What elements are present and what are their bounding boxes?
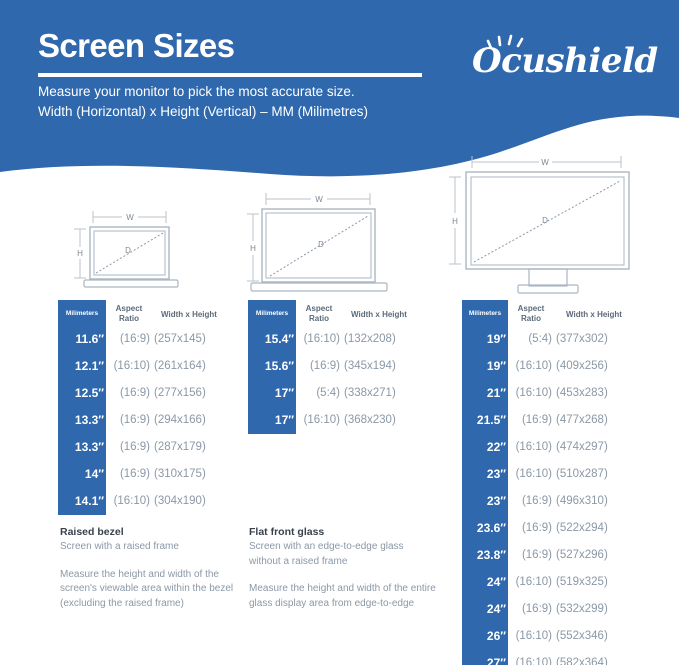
- cell-aspect-ratio: (16:10): [104, 353, 150, 380]
- cell-width-height: (310x175): [154, 461, 234, 488]
- table-3-rows: 19″(5:4)(377x302)19″(16:10)(409x256)21″(…: [462, 326, 642, 665]
- col-header-millimeters: Milimeters: [250, 310, 294, 318]
- height-label: H: [452, 217, 458, 226]
- table-row: 21″(16:10)(453x283): [462, 380, 642, 407]
- table-row: 19″(16:10)(409x256): [462, 353, 642, 380]
- cell-width-height: (304x190): [154, 488, 234, 515]
- col-header-width-height: Width x Height: [548, 310, 640, 320]
- note-raised-bezel-subtitle: Screen with a raised frame: [60, 540, 248, 555]
- cell-aspect-ratio: (16:9): [506, 488, 552, 515]
- size-table-laptop: Milimeters Aspect Ratio Width x Height 1…: [58, 300, 233, 515]
- table-row: 26″(16:10)(552x346): [462, 623, 642, 650]
- note-flat-glass-title: Flat front glass: [249, 526, 437, 538]
- table-row: 19″(5:4)(377x302): [462, 326, 642, 353]
- cell-width-height: (474x297): [556, 434, 642, 461]
- cell-millimeters: 11.6″: [60, 326, 104, 353]
- col-header-aspect: Aspect: [510, 304, 552, 314]
- cell-millimeters: 22″: [464, 434, 506, 461]
- cell-width-height: (496x310): [556, 488, 642, 515]
- cell-aspect-ratio: (16:10): [506, 434, 552, 461]
- subtitle-line-2: Width (Horizontal) x Height (Vertical) –…: [38, 102, 468, 122]
- cell-width-height: (287x179): [154, 434, 234, 461]
- table-row: 11.6″(16:9)(257x145): [58, 326, 233, 353]
- width-label: W: [541, 158, 549, 167]
- note-raised-bezel-body: Measure the height and width of the scre…: [60, 568, 248, 612]
- cell-millimeters: 17″: [250, 380, 294, 407]
- cell-millimeters: 23″: [464, 461, 506, 488]
- width-label: W: [315, 195, 323, 204]
- cell-aspect-ratio: (16:10): [506, 461, 552, 488]
- table-2-rows: 15.4″(16:10)(132x208)15.6″(16:9)(345x194…: [248, 326, 423, 434]
- size-table-monitor: Milimeters Aspect Ratio Width x Height 1…: [462, 300, 642, 665]
- col-header-width-height: Width x Height: [146, 310, 232, 320]
- subtitle-line-1: Measure your monitor to pick the most ac…: [38, 82, 468, 102]
- cell-millimeters: 24″: [464, 596, 506, 623]
- cell-aspect-ratio: (16:10): [506, 353, 552, 380]
- cell-aspect-ratio: (5:4): [506, 326, 552, 353]
- header-content: Screen Sizes Measure your monitor to pic…: [0, 0, 679, 150]
- cell-width-height: (453x283): [556, 380, 642, 407]
- brand-wordmark: Ocushield: [472, 44, 642, 78]
- cell-millimeters: 23″: [464, 488, 506, 515]
- cell-millimeters: 13.3″: [60, 407, 104, 434]
- table-2-header-row: Milimeters Aspect Ratio Width x Height: [248, 300, 423, 326]
- table-row: 12.1″(16:10)(261x164): [58, 353, 233, 380]
- col-header-ratio: Ratio: [510, 314, 552, 324]
- header-subtitle: Measure your monitor to pick the most ac…: [38, 82, 468, 121]
- cell-aspect-ratio: (16:9): [506, 596, 552, 623]
- cell-aspect-ratio: (16:9): [506, 542, 552, 569]
- cell-aspect-ratio: (16:10): [294, 326, 340, 353]
- col-header-width-height: Width x Height: [336, 310, 422, 320]
- cell-width-height: (261x164): [154, 353, 234, 380]
- diagonal-label: D: [125, 246, 131, 255]
- cell-width-height: (477x268): [556, 407, 642, 434]
- cell-width-height: (294x166): [154, 407, 234, 434]
- table-row: 17″(16:10)(368x230): [248, 407, 423, 434]
- cell-width-height: (527x296): [556, 542, 642, 569]
- cell-aspect-ratio: (16:9): [104, 461, 150, 488]
- cell-millimeters: 24″: [464, 569, 506, 596]
- table-row: 23″(16:9)(496x310): [462, 488, 642, 515]
- cell-millimeters: 13.3″: [60, 434, 104, 461]
- table-row: 24″(16:9)(532x299): [462, 596, 642, 623]
- cell-aspect-ratio: (5:4): [294, 380, 340, 407]
- cell-millimeters: 19″: [464, 326, 506, 353]
- cell-width-height: (377x302): [556, 326, 642, 353]
- cell-aspect-ratio: (16:9): [104, 407, 150, 434]
- note-raised-bezel: Raised bezel Screen with a raised frame …: [60, 526, 248, 611]
- col-header-millimeters: Milimeters: [60, 310, 104, 318]
- table-1-rows: 11.6″(16:9)(257x145)12.1″(16:10)(261x164…: [58, 326, 233, 515]
- cell-millimeters: 27″: [464, 650, 506, 665]
- cell-width-height: (132x208): [344, 326, 424, 353]
- diagonal-label: D: [542, 216, 548, 225]
- table-row: 14.1″(16:10)(304x190): [58, 488, 233, 515]
- cell-millimeters: 26″: [464, 623, 506, 650]
- col-header-ratio: Ratio: [108, 314, 150, 324]
- cell-millimeters: 12.5″: [60, 380, 104, 407]
- table-row: 14″(16:9)(310x175): [58, 461, 233, 488]
- cell-width-height: (510x287): [556, 461, 642, 488]
- cell-width-height: (519x325): [556, 569, 642, 596]
- table-row: 23.6″(16:9)(522x294): [462, 515, 642, 542]
- cell-width-height: (338x271): [344, 380, 424, 407]
- cell-aspect-ratio: (16:9): [506, 407, 552, 434]
- stand-neck: [529, 269, 567, 286]
- cell-aspect-ratio: (16:10): [506, 380, 552, 407]
- width-label: W: [126, 213, 134, 222]
- height-label: H: [250, 244, 256, 253]
- table-row: 12.5″(16:9)(277x156): [58, 380, 233, 407]
- screen-sizes-infographic: Screen Sizes Measure your monitor to pic…: [0, 0, 679, 665]
- cell-aspect-ratio: (16:10): [506, 650, 552, 665]
- cell-millimeters: 23.6″: [464, 515, 506, 542]
- table-row: 23.8″(16:9)(527x296): [462, 542, 642, 569]
- table-row: 23″(16:10)(510x287): [462, 461, 642, 488]
- note-raised-bezel-title: Raised bezel: [60, 526, 248, 538]
- table-row: 27″(16:10)(582x364): [462, 650, 642, 665]
- cell-millimeters: 12.1″: [60, 353, 104, 380]
- cell-aspect-ratio: (16:10): [294, 407, 340, 434]
- note-flat-front-glass: Flat front glass Screen with an edge-to-…: [249, 526, 437, 611]
- cell-width-height: (552x346): [556, 623, 642, 650]
- cell-millimeters: 15.6″: [250, 353, 294, 380]
- cell-aspect-ratio: (16:10): [506, 623, 552, 650]
- cell-millimeters: 23.8″: [464, 542, 506, 569]
- table-row: 13.3″(16:9)(287x179): [58, 434, 233, 461]
- col-header-aspect-ratio: Aspect Ratio: [510, 304, 552, 324]
- cell-aspect-ratio: (16:9): [104, 380, 150, 407]
- col-header-aspect: Aspect: [108, 304, 150, 314]
- cell-aspect-ratio: (16:9): [294, 353, 340, 380]
- cell-millimeters: 19″: [464, 353, 506, 380]
- cell-millimeters: 14.1″: [60, 488, 104, 515]
- diagram-large-monitor: W H D: [433, 150, 648, 295]
- page-title: Screen Sizes: [38, 29, 234, 62]
- cell-millimeters: 21.5″: [464, 407, 506, 434]
- table-row: 15.4″(16:10)(132x208): [248, 326, 423, 353]
- cell-aspect-ratio: (16:10): [104, 488, 150, 515]
- cell-width-height: (532x299): [556, 596, 642, 623]
- col-header-ratio: Ratio: [298, 314, 340, 324]
- title-divider: [38, 73, 422, 77]
- size-table-midsize: Milimeters Aspect Ratio Width x Height 1…: [248, 300, 423, 434]
- table-3-header-row: Milimeters Aspect Ratio Width x Height: [462, 300, 642, 326]
- diagonal-label: D: [318, 240, 324, 249]
- note-flat-glass-subtitle: Screen with an edge-to-edge glass withou…: [249, 540, 437, 569]
- cell-millimeters: 15.4″: [250, 326, 294, 353]
- cell-width-height: (277x156): [154, 380, 234, 407]
- table-row: 17″(5:4)(338x271): [248, 380, 423, 407]
- cell-aspect-ratio: (16:9): [104, 434, 150, 461]
- cell-width-height: (522x294): [556, 515, 642, 542]
- col-header-aspect: Aspect: [298, 304, 340, 314]
- col-header-aspect-ratio: Aspect Ratio: [108, 304, 150, 324]
- col-header-aspect-ratio: Aspect Ratio: [298, 304, 340, 324]
- height-label: H: [77, 249, 83, 258]
- cell-width-height: (345x194): [344, 353, 424, 380]
- table-row: 22″(16:10)(474x297): [462, 434, 642, 461]
- cell-width-height: (409x256): [556, 353, 642, 380]
- note-flat-glass-body: Measure the height and width of the enti…: [249, 582, 437, 611]
- cell-millimeters: 14″: [60, 461, 104, 488]
- diagram-flat-front-glass: W H D: [243, 185, 418, 295]
- cell-aspect-ratio: (16:9): [104, 326, 150, 353]
- cell-width-height: (368x230): [344, 407, 424, 434]
- table-row: 21.5″(16:9)(477x268): [462, 407, 642, 434]
- cell-aspect-ratio: (16:9): [506, 515, 552, 542]
- table-row: 15.6″(16:9)(345x194): [248, 353, 423, 380]
- table-row: 24″(16:10)(519x325): [462, 569, 642, 596]
- col-header-millimeters: Milimeters: [464, 310, 506, 318]
- table-1-header-row: Milimeters Aspect Ratio Width x Height: [58, 300, 233, 326]
- diagram-raised-bezel: W H D: [62, 200, 222, 292]
- table-row: 13.3″(16:9)(294x166): [58, 407, 233, 434]
- cell-width-height: (582x364): [556, 650, 642, 665]
- cell-width-height: (257x145): [154, 326, 234, 353]
- cell-millimeters: 21″: [464, 380, 506, 407]
- ocushield-logo: Ocushield: [472, 34, 642, 90]
- cell-aspect-ratio: (16:10): [506, 569, 552, 596]
- cell-millimeters: 17″: [250, 407, 294, 434]
